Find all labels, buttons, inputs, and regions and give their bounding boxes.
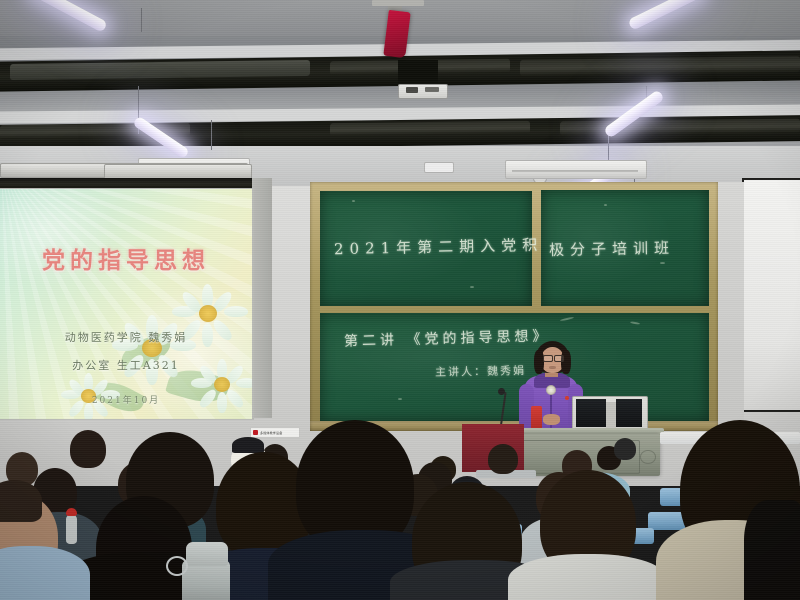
ceiling-duct-6 <box>560 119 800 136</box>
blackboard-presenter-line: 主讲人：魏秀娟 <box>435 362 526 380</box>
speaker-party-badge <box>565 396 569 400</box>
monitor-stand <box>606 402 616 428</box>
slide-title: 党的指导思想 <box>0 241 252 275</box>
ceiling-hook-plate <box>372 0 424 6</box>
flower-core <box>214 377 230 392</box>
audience-head <box>232 437 264 453</box>
multimedia-equipment-plate: 多媒体教学设备 <box>250 427 300 438</box>
blackboard-heading-part2: 极分子培训班 <box>549 237 675 260</box>
flower-core <box>199 305 217 322</box>
ceiling-duct-5 <box>330 121 530 136</box>
plate-logo-icon <box>253 430 258 435</box>
ac-brand-badge <box>424 162 454 173</box>
audience-head <box>488 444 518 474</box>
slide-subtitle-line-1: 动物医药学院 魏秀娟 <box>0 329 252 345</box>
light-wire-1 <box>141 8 142 32</box>
audience-head-foreground <box>744 500 800 600</box>
chalk-speck <box>470 286 474 288</box>
chalk-speck <box>660 262 665 264</box>
speaker-glasses-right <box>554 355 564 362</box>
lecture-hall-photo: 党的指导思想 动物医药学院 魏秀娟 办公室 生工A321 2021年10月 多媒… <box>0 0 800 600</box>
podium-emblem-right <box>640 450 656 464</box>
screen-right-border <box>252 178 272 418</box>
grey-thermos-cap-icon <box>186 542 228 566</box>
petal <box>236 378 252 388</box>
slide-date: 2021年10月 <box>0 393 252 406</box>
screen-top-bar <box>0 178 252 188</box>
blackboard-heading-part1: 2021年第二期入党积 <box>334 234 544 259</box>
speaker-hands <box>543 414 560 425</box>
audience-shoulders-foreground <box>508 554 668 600</box>
water-bottle-cap-icon <box>66 508 77 516</box>
audience-head <box>614 438 636 460</box>
light-wire-3 <box>211 120 212 150</box>
petal <box>224 306 248 317</box>
grey-thermos-handle <box>166 556 188 576</box>
speaker-hair-left <box>534 350 544 374</box>
monitor-screen <box>576 399 606 427</box>
water-bottle-clear <box>66 514 77 544</box>
projector-lens <box>406 87 418 93</box>
chalk-speck <box>604 204 607 206</box>
slide-canvas: 党的指导思想 动物医药学院 魏秀娟 办公室 生工A321 2021年10月 <box>0 189 252 419</box>
speaker-hair-right <box>561 350 571 374</box>
plate-label: 多媒体教学设备 <box>260 431 282 435</box>
chalk-speck <box>398 398 402 400</box>
grey-thermos <box>182 560 230 600</box>
audience-head <box>70 430 106 468</box>
projector-vent <box>425 87 439 92</box>
chalk-speck <box>352 200 355 202</box>
monitor-screen-2 <box>616 399 642 427</box>
right-whiteboard <box>742 178 800 412</box>
slide-subtitle-line-2: 办公室 生工A321 <box>0 357 252 373</box>
ac-vent-right <box>512 170 638 172</box>
right-wall-strip <box>718 182 744 432</box>
speaker-mouth <box>549 366 556 369</box>
speaker-glasses-left <box>543 355 553 362</box>
projector-mount-shadow <box>398 60 438 84</box>
microphone-head-icon <box>498 388 505 395</box>
speaker-pendant <box>546 385 556 395</box>
